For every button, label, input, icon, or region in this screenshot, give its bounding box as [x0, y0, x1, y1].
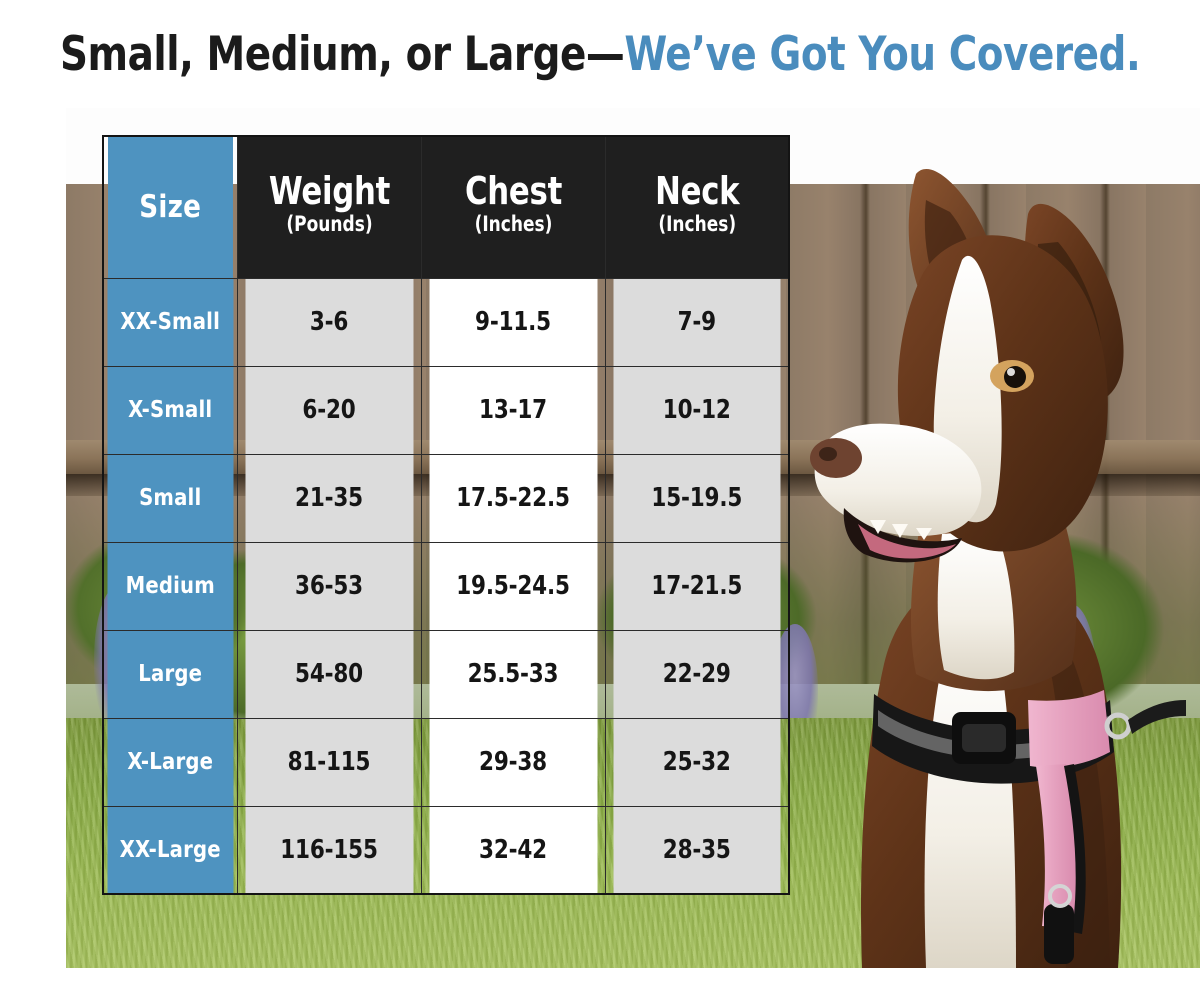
- cell-weight: 81-115: [244, 718, 413, 806]
- cell-weight: 54-80: [244, 630, 413, 718]
- dog-illustration: [766, 104, 1186, 968]
- cell-neck: 22-29: [612, 630, 781, 718]
- cell-neck: 7-9: [612, 278, 781, 366]
- column-header-neck-unit: (Inches): [615, 210, 779, 238]
- cell-weight: 21-35: [244, 454, 413, 542]
- cell-weight: 6-20: [244, 366, 413, 454]
- cell-chest: 29-38: [428, 718, 597, 806]
- title-text: Small, Medium, or Large—We’ve Got You Co…: [60, 27, 1140, 82]
- table-row: XX-Large 116-155 32-42 28-35: [103, 806, 789, 894]
- table-row: Medium 36-53 19.5-24.5 17-21.5: [103, 542, 789, 630]
- column-header-size-label: Size: [139, 189, 201, 225]
- cell-chest: 9-11.5: [428, 278, 597, 366]
- cell-neck: 25-32: [612, 718, 781, 806]
- title-blue-part: We’ve Got You Covered.: [624, 27, 1140, 82]
- cell-neck: 15-19.5: [612, 454, 781, 542]
- cell-size: X-Small: [106, 366, 233, 454]
- table-header: Size Weight (Pounds) Chest (Inches) Neck…: [103, 136, 789, 278]
- cell-size: Small: [106, 454, 233, 542]
- cell-weight: 3-6: [244, 278, 413, 366]
- column-header-neck: Neck (Inches): [605, 136, 789, 278]
- column-header-weight-label: Weight: [247, 172, 412, 211]
- table-row: X-Large 81-115 29-38 25-32: [103, 718, 789, 806]
- table-header-row: Size Weight (Pounds) Chest (Inches) Neck…: [103, 136, 789, 278]
- cell-neck: 17-21.5: [612, 542, 781, 630]
- table-body: XX-Small 3-6 9-11.5 7-9 X-Small 6-20 13-…: [103, 278, 789, 894]
- column-header-chest-label: Chest: [431, 172, 596, 211]
- column-header-chest-unit: (Inches): [431, 210, 596, 238]
- cell-size: Medium: [106, 542, 233, 630]
- cell-chest: 19.5-24.5: [428, 542, 597, 630]
- table-row: X-Small 6-20 13-17 10-12: [103, 366, 789, 454]
- cell-weight: 36-53: [244, 542, 413, 630]
- size-chart-page: Small, Medium, or Large—We’ve Got You Co…: [0, 0, 1200, 989]
- cell-chest: 25.5-33: [428, 630, 597, 718]
- table-row: Small 21-35 17.5-22.5 15-19.5: [103, 454, 789, 542]
- size-chart-table: Size Weight (Pounds) Chest (Inches) Neck…: [102, 135, 790, 895]
- table-row: XX-Small 3-6 9-11.5 7-9: [103, 278, 789, 366]
- cell-size: XX-Large: [106, 806, 233, 894]
- column-header-neck-label: Neck: [615, 172, 779, 211]
- cell-weight: 116-155: [244, 806, 413, 894]
- cell-neck: 10-12: [612, 366, 781, 454]
- title-dark-part: Small, Medium, or Large—: [60, 27, 624, 82]
- page-title: Small, Medium, or Large—We’ve Got You Co…: [0, 0, 1200, 108]
- cell-chest: 17.5-22.5: [428, 454, 597, 542]
- column-header-weight-unit: (Pounds): [247, 210, 412, 238]
- column-header-chest: Chest (Inches): [421, 136, 605, 278]
- cell-size: X-Large: [106, 718, 233, 806]
- cell-neck: 28-35: [612, 806, 781, 894]
- cell-size: XX-Small: [106, 278, 233, 366]
- cell-chest: 32-42: [428, 806, 597, 894]
- column-header-weight: Weight (Pounds): [237, 136, 421, 278]
- column-header-size: Size: [107, 136, 233, 278]
- cell-chest: 13-17: [428, 366, 597, 454]
- cell-size: Large: [106, 630, 233, 718]
- table-row: Large 54-80 25.5-33 22-29: [103, 630, 789, 718]
